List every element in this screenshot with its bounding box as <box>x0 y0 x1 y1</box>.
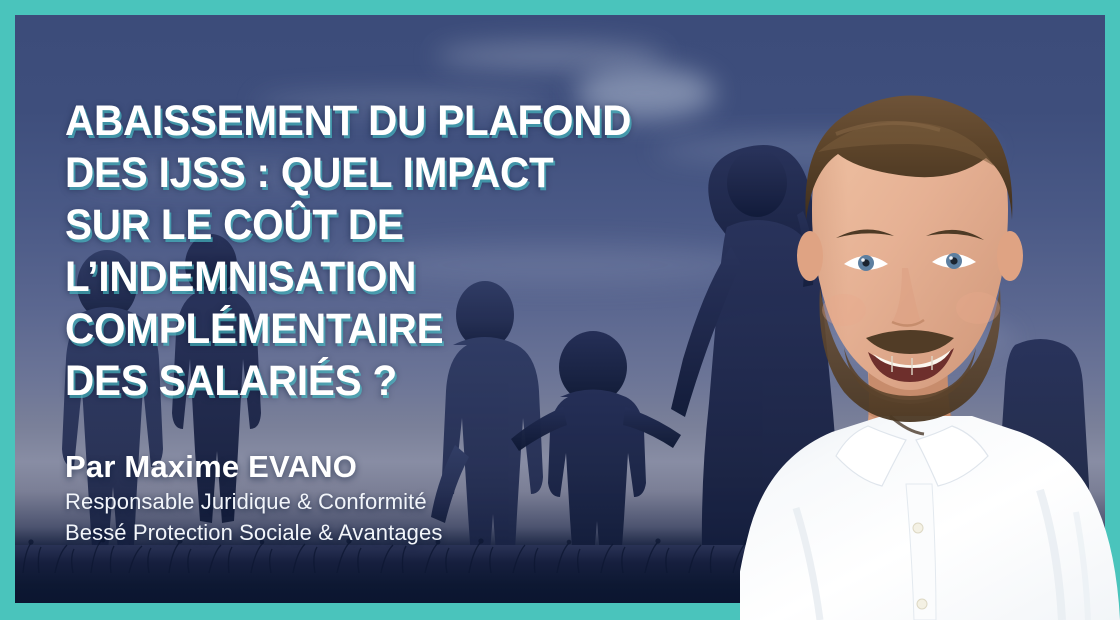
shirt <box>740 416 1120 620</box>
ear-left <box>797 231 823 281</box>
copy-block: ABAISSEMENT DU PLAFOND DES IJSS : QUEL I… <box>65 95 765 547</box>
head <box>797 90 1023 422</box>
byline-author: Par Maxime EVANO <box>65 449 765 485</box>
shirt-button <box>913 523 923 533</box>
byline-role: Responsable Juridique & Conformité <box>65 487 765 516</box>
ear-right <box>997 231 1023 281</box>
byline-company: Bessé Protection Sociale & Avantages <box>65 518 765 547</box>
shirt-button <box>917 599 927 609</box>
page-title: ABAISSEMENT DU PLAFOND DES IJSS : QUEL I… <box>65 95 723 407</box>
banner-graphic: ABAISSEMENT DU PLAFOND DES IJSS : QUEL I… <box>0 0 1120 620</box>
portrait-photo <box>740 60 1120 620</box>
